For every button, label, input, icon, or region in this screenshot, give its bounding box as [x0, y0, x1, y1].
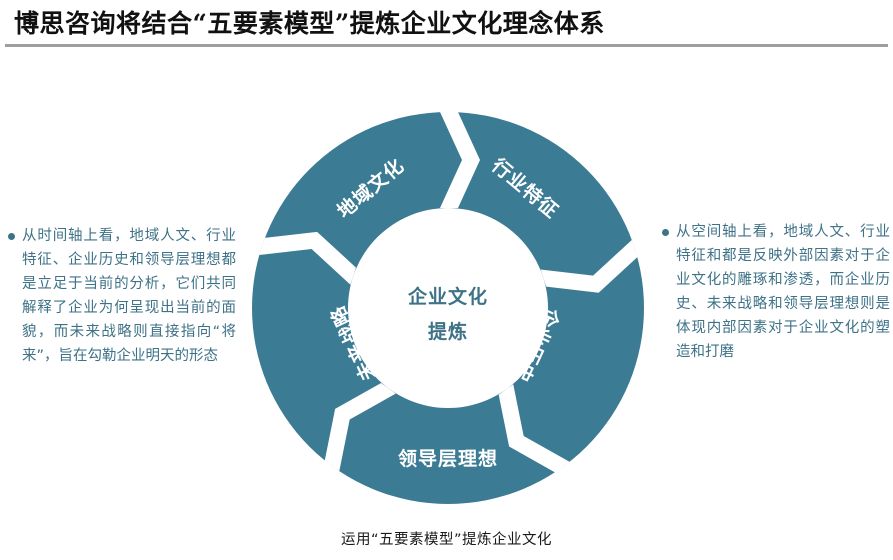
bullet-dot-icon: [8, 233, 15, 240]
title-divider: [5, 44, 888, 47]
donut-center-label: 企业文化 提炼: [348, 280, 548, 350]
page-title: 博思咨询将结合“五要素模型”提炼企业文化理念体系: [14, 4, 605, 40]
page-header: 博思咨询将结合“五要素模型”提炼企业文化理念体系: [0, 0, 893, 56]
five-element-donut-diagram: 地域文化 行业特征 企业历史 领导层理想 未来战略 企业文化 提炼: [252, 112, 644, 504]
figure-caption: 运用“五要素模型”提炼企业文化: [0, 528, 893, 549]
note-right-spaceaxis: 从空间轴上看，地域人文、行业特征和都是反映外部因素对于企业文化的雕琢和渗透，而企…: [662, 220, 890, 364]
segment-label-leadership[interactable]: 领导层理想: [388, 444, 508, 471]
center-line-2: 提炼: [348, 315, 548, 350]
note-right-text: 从空间轴上看，地域人文、行业特征和都是反映外部因素对于企业文化的雕琢和渗透，而企…: [676, 220, 890, 364]
note-left-timeline: 从时间轴上看，地域人文、行业特征、企业历史和领导层理想都是立足于当前的分析，它们…: [8, 224, 236, 368]
center-line-1: 企业文化: [348, 280, 548, 315]
bullet-dot-icon: [662, 229, 669, 236]
note-left-text: 从时间轴上看，地域人文、行业特征、企业历史和领导层理想都是立足于当前的分析，它们…: [22, 224, 236, 368]
